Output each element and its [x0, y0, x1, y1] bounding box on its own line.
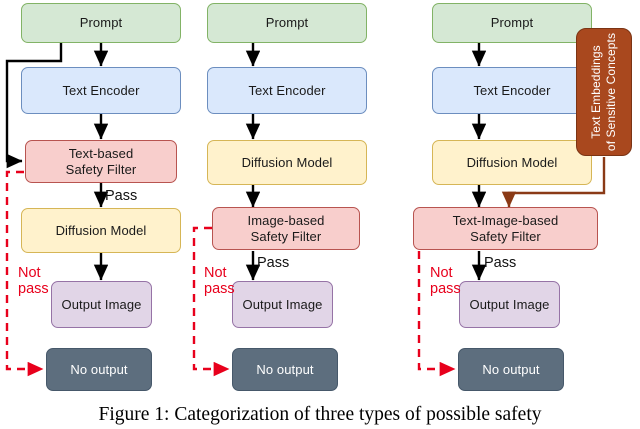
node-label: Output Image: [243, 297, 323, 313]
edge-label-not-pass-image-based: Notpass: [204, 265, 235, 297]
node-label: No output: [70, 362, 127, 378]
node-output-image-text-based[interactable]: Output Image: [51, 281, 152, 328]
node-output-image-image-based[interactable]: Output Image: [232, 281, 333, 328]
node-prompt-text-image-based[interactable]: Prompt: [432, 3, 592, 43]
node-diffusion-model-text-based[interactable]: Diffusion Model: [21, 208, 181, 253]
node-label: Image-basedSafety Filter: [248, 213, 325, 245]
edge-label-pass-text-image-based: Pass: [484, 255, 516, 271]
node-no-output-text-image-based[interactable]: No output: [458, 348, 564, 391]
node-diffusion-model-text-image-based[interactable]: Diffusion Model: [432, 140, 592, 185]
node-text-encoder-text-based[interactable]: Text Encoder: [21, 67, 181, 114]
node-label: No output: [256, 362, 313, 378]
node-label: Output Image: [470, 297, 550, 313]
node-label: Text-Image-basedSafety Filter: [453, 213, 559, 245]
figure-diagram: Prompt Text Encoder Text-basedSafety Fil…: [0, 0, 640, 429]
node-text-based-safety-filter[interactable]: Text-basedSafety Filter: [25, 140, 177, 183]
edge-label-pass-text-based: Pass: [105, 188, 137, 204]
node-label: Diffusion Model: [242, 155, 333, 171]
node-label: No output: [482, 362, 539, 378]
node-label: Text Embeddingsof Sensitive Concepts: [589, 33, 619, 151]
node-label: Prompt: [80, 15, 123, 31]
node-prompt-image-based[interactable]: Prompt: [207, 3, 367, 43]
node-label: Text Encoder: [62, 83, 139, 99]
edge-label-not-pass-text-based: Notpass: [18, 265, 49, 297]
edge-label-not-pass-text-image-based: Notpass: [430, 265, 461, 297]
node-prompt-text-based[interactable]: Prompt: [21, 3, 181, 43]
figure-caption: Figure 1: Categorization of three types …: [0, 404, 640, 426]
edge-label-pass-image-based: Pass: [257, 255, 289, 271]
node-text-image-based-safety-filter[interactable]: Text-Image-basedSafety Filter: [413, 207, 598, 250]
node-text-embeddings-of-sensitive-concepts[interactable]: Text Embeddingsof Sensitive Concepts: [576, 28, 632, 156]
node-label: Diffusion Model: [467, 155, 558, 171]
node-image-based-safety-filter[interactable]: Image-basedSafety Filter: [212, 207, 360, 250]
node-output-image-text-image-based[interactable]: Output Image: [459, 281, 560, 328]
node-label: Output Image: [62, 297, 142, 313]
node-no-output-text-based[interactable]: No output: [46, 348, 152, 391]
node-no-output-image-based[interactable]: No output: [232, 348, 338, 391]
node-label: Diffusion Model: [56, 223, 147, 239]
node-text-encoder-text-image-based[interactable]: Text Encoder: [432, 67, 592, 114]
node-label: Text Encoder: [248, 83, 325, 99]
node-label: Prompt: [491, 15, 534, 31]
node-text-encoder-image-based[interactable]: Text Encoder: [207, 67, 367, 114]
node-label: Text-basedSafety Filter: [66, 146, 137, 178]
node-label: Prompt: [266, 15, 309, 31]
node-label: Text Encoder: [473, 83, 550, 99]
node-diffusion-model-image-based[interactable]: Diffusion Model: [207, 140, 367, 185]
